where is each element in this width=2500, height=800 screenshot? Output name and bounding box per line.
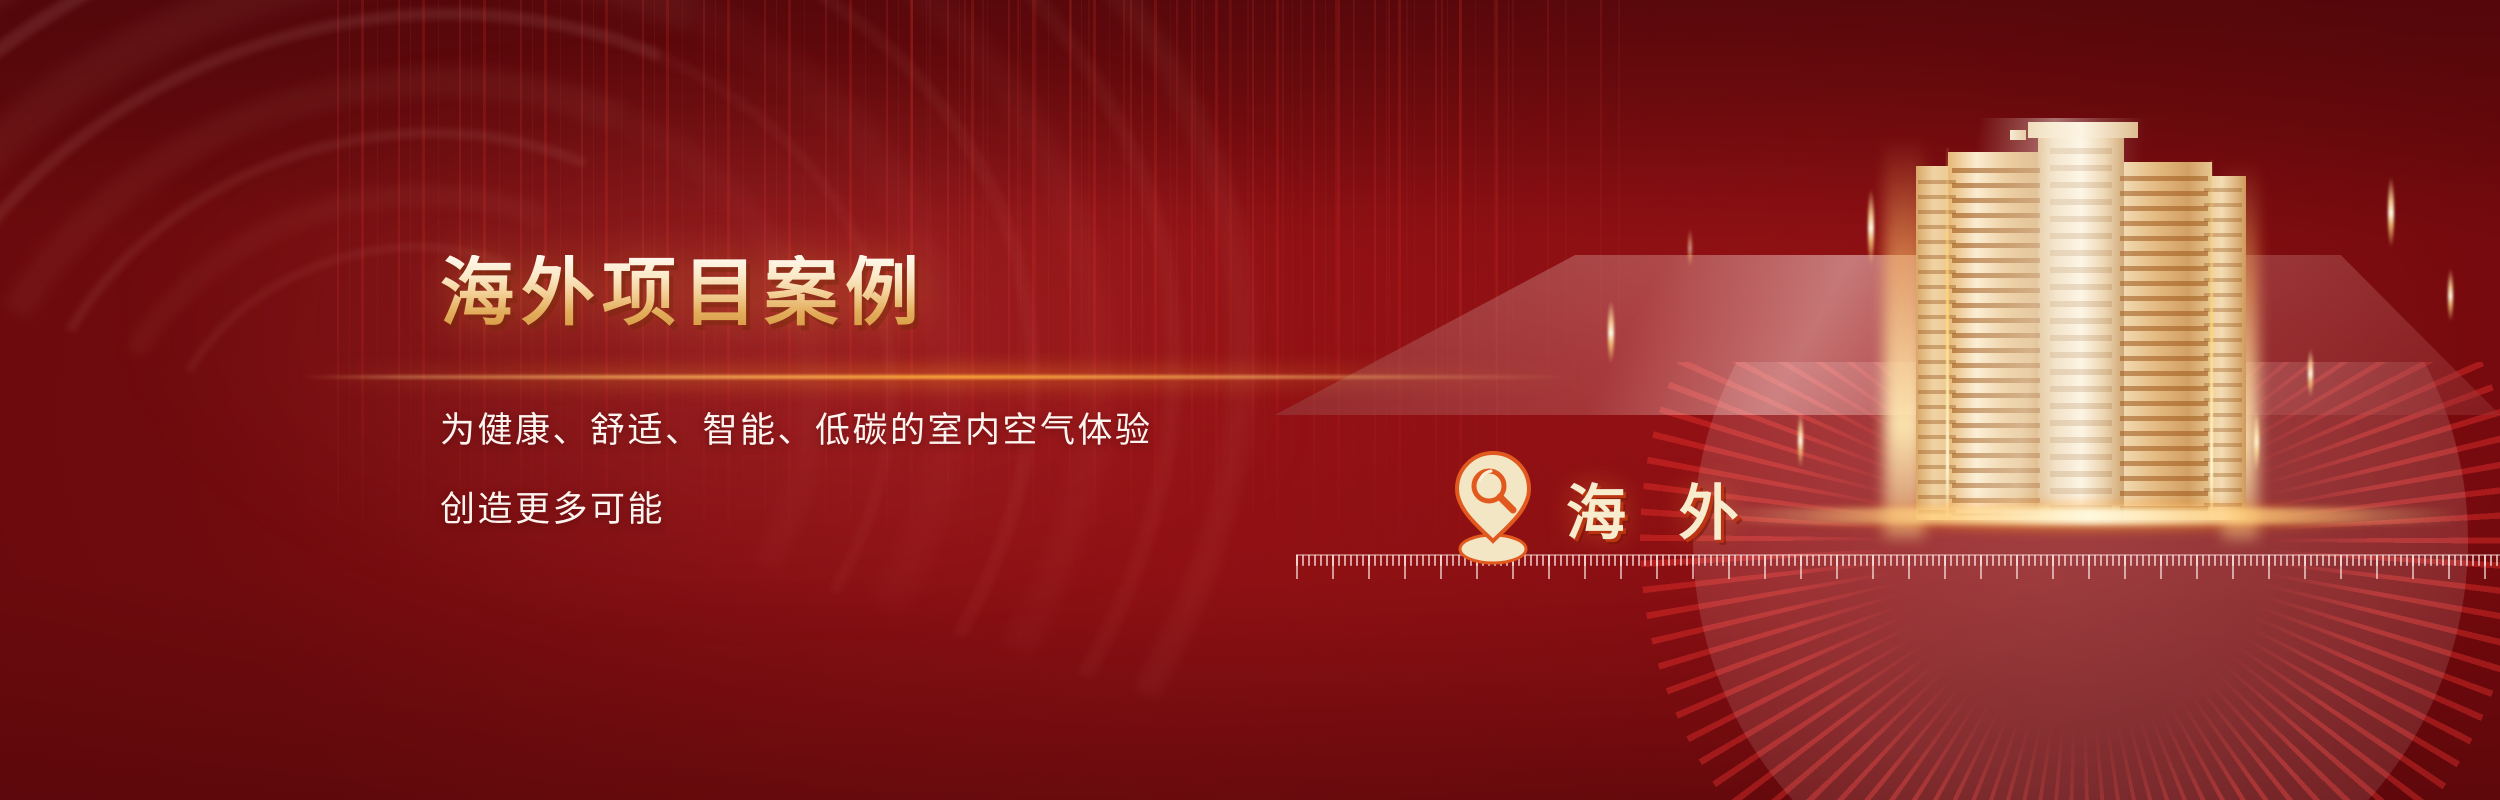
building-floor-light-line bbox=[1720, 508, 2460, 524]
map-pin-search-icon bbox=[1450, 448, 1536, 566]
location-badge-label: 海 外 bbox=[1566, 470, 1757, 544]
headline-block: 海外项目案例 为健康、舒适、智能、低碳的室内空气体验 创造更多可能 bbox=[440, 255, 1440, 527]
subtitle-line-2: 创造更多可能 bbox=[440, 492, 1440, 527]
light-streak-icon bbox=[2308, 348, 2313, 398]
light-streak-icon bbox=[2448, 268, 2453, 322]
tower-roof-ledge bbox=[2010, 130, 2026, 140]
light-streak-icon bbox=[1798, 412, 1803, 468]
tower-windows-far-left bbox=[1918, 180, 1956, 516]
light-streak-icon bbox=[2388, 176, 2394, 248]
light-streak-icon bbox=[1608, 300, 1614, 364]
tower-edge-highlight-left bbox=[1946, 148, 1949, 520]
tower-roof-cap bbox=[2028, 122, 2138, 138]
tower-windows-right bbox=[2120, 176, 2208, 516]
light-streak-icon bbox=[1868, 188, 1874, 266]
title-underline bbox=[300, 375, 1580, 379]
overseas-project-cases-banner: 海 外 海外项目案例 为健康、舒适、智能、低碳的室内空气体验 创造更多可能 bbox=[0, 0, 2500, 800]
tower-edge-highlight-right bbox=[2210, 160, 2213, 520]
subtitle-line-1: 为健康、舒适、智能、低碳的室内空气体验 bbox=[440, 413, 1440, 448]
location-badge[interactable]: 海 外 bbox=[1450, 448, 1757, 566]
tower-windows-center bbox=[2050, 148, 2112, 516]
page-title: 海外项目案例 bbox=[440, 255, 1440, 330]
gold-skyscraper bbox=[1910, 108, 2250, 520]
tower-windows-left bbox=[1952, 168, 2040, 516]
light-streak-icon bbox=[1688, 228, 1692, 268]
